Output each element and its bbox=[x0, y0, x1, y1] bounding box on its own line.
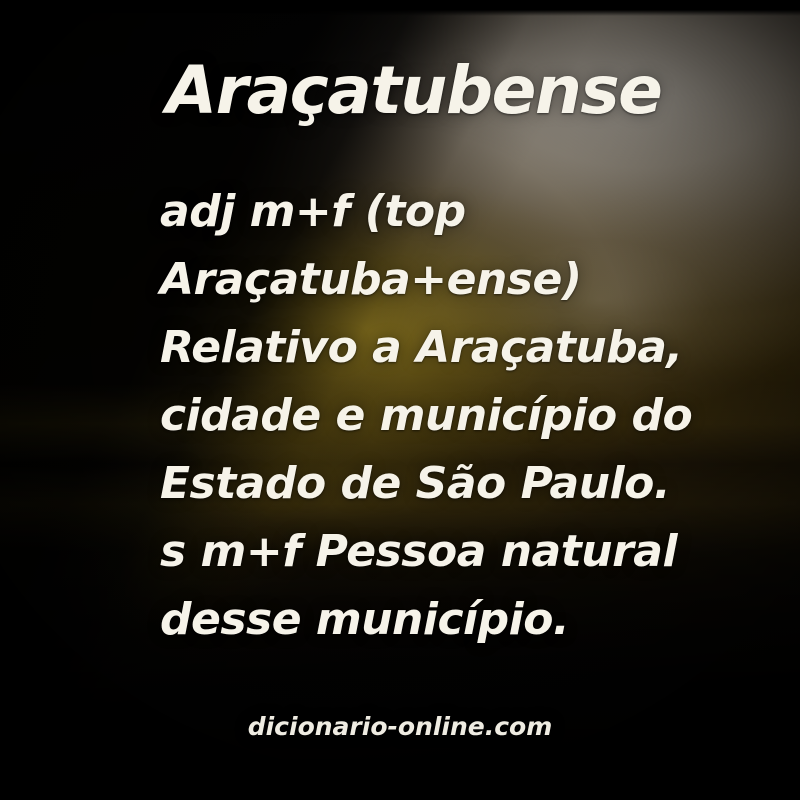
source-watermark: dicionario-online.com bbox=[0, 712, 800, 741]
definition-line: adj m+f (top bbox=[160, 178, 680, 246]
definition-text-block: adj m+f (top Araçatuba+ense) Relativo a … bbox=[160, 178, 680, 654]
definition-line: cidade e município do bbox=[160, 382, 680, 450]
definition-line: Relativo a Araçatuba, bbox=[160, 314, 680, 382]
definition-line: Araçatuba+ense) bbox=[160, 246, 680, 314]
definition-line: s m+f Pessoa natural bbox=[160, 518, 680, 586]
card-content: Araçatubense adj m+f (top Araçatuba+ense… bbox=[0, 0, 800, 800]
headword-title: Araçatubense bbox=[166, 58, 661, 124]
dictionary-definition-card: Araçatubense adj m+f (top Araçatuba+ense… bbox=[0, 0, 800, 800]
definition-line: Estado de São Paulo. bbox=[160, 450, 680, 518]
definition-line: desse município. bbox=[160, 586, 680, 654]
